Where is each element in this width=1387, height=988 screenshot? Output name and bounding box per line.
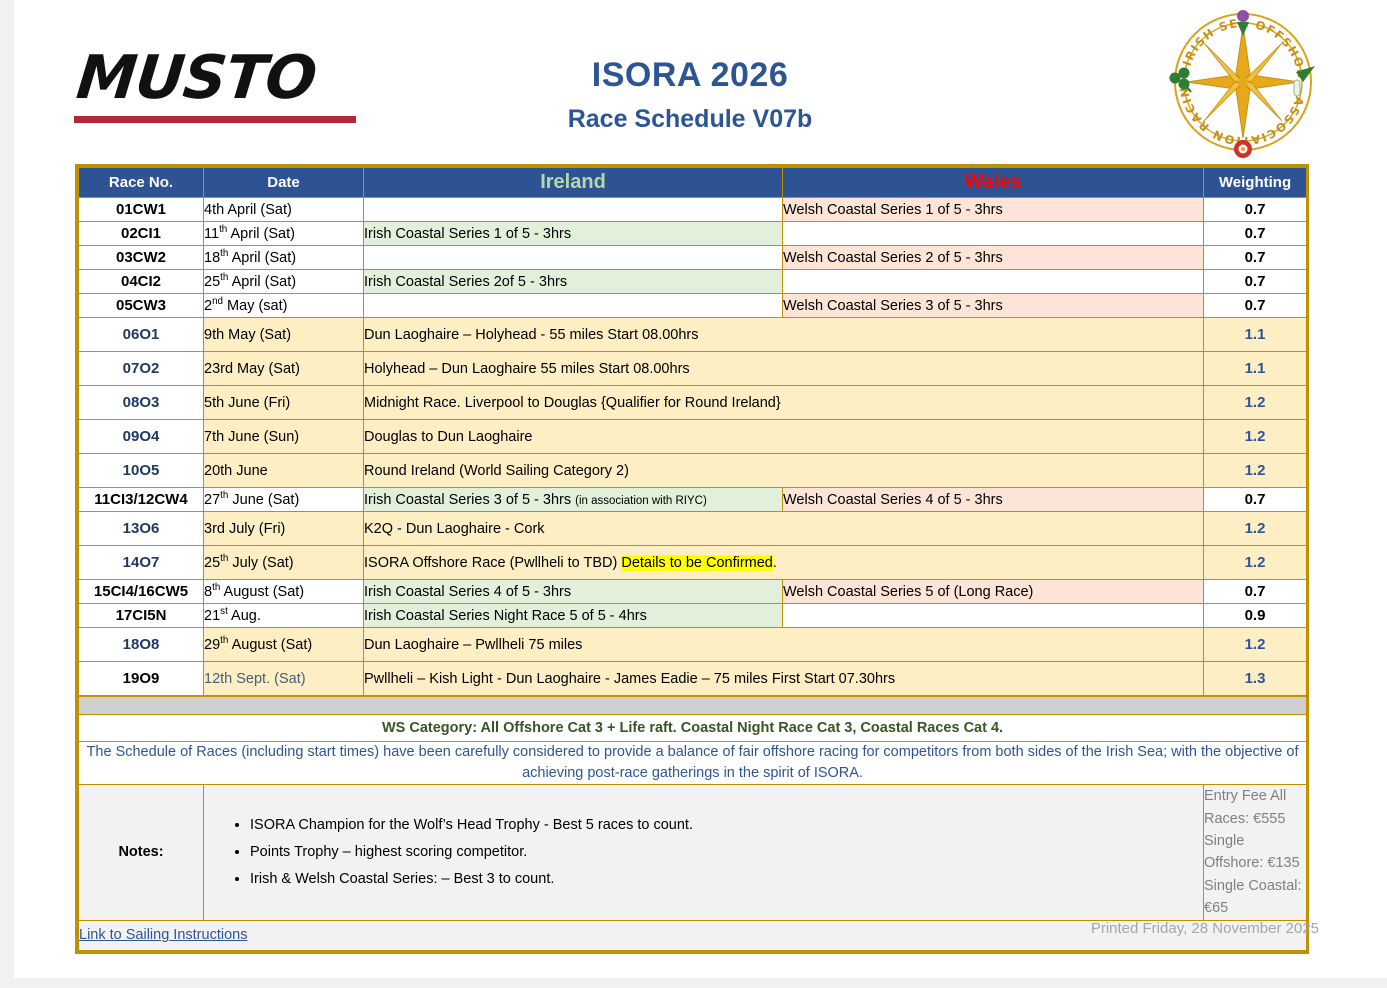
cell-weighting: 0.7 [1204,294,1307,318]
cell-ireland-race [364,246,783,270]
table-row: 18O829th August (Sat)Dun Laoghaire – Pwl… [79,628,1307,662]
cell-race-no: 14O7 [79,546,204,580]
cell-ireland-race: Irish Coastal Series 1 of 5 - 3hrs [364,222,783,246]
table-row: 05CW32nd May (sat)Welsh Coastal Series 3… [79,294,1307,318]
note-item: Points Trophy – highest scoring competit… [250,839,1203,866]
cell-weighting: 1.2 [1204,454,1307,488]
title-block: ISORA 2026 Race Schedule V07b [430,56,950,134]
cell-ireland-race [364,198,783,222]
table-row: 08O35th June (Fri)Midnight Race. Liverpo… [79,386,1307,420]
cell-race-no: 13O6 [79,512,204,546]
table-row: 02CI111th April (Sat)Irish Coastal Serie… [79,222,1307,246]
cell-race-no: 08O3 [79,386,204,420]
cell-race-no: 04CI2 [79,270,204,294]
cell-weighting: 0.9 [1204,604,1307,628]
link-to-sailing-instructions[interactable]: Link to Sailing Instructions [79,927,247,943]
cell-weighting: 0.7 [1204,222,1307,246]
cell-weighting: 1.1 [1204,318,1307,352]
table-row: 04CI225th April (Sat)Irish Coastal Serie… [79,270,1307,294]
cell-ireland-race: Irish Coastal Series 2of 5 - 3hrs [364,270,783,294]
thistle-icon [1237,10,1249,36]
cell-race-no: 19O9 [79,662,204,696]
cell-race-no: 11CI3/12CW4 [79,488,204,512]
cell-date: 18th April (Sat) [204,246,364,270]
musto-logo: MUSTO [74,50,356,123]
cell-race-no: 01CW1 [79,198,204,222]
cell-wales-race [783,222,1204,246]
notes-list: ISORA Champion for the Wolf’s Head Troph… [204,785,1204,921]
cell-weighting: 1.3 [1204,662,1307,696]
cell-race-description: ISORA Offshore Race (Pwllheli to TBD) De… [364,546,1204,580]
table-row: 09O47th June (Sun)Douglas to Dun Laoghai… [79,420,1307,454]
cell-date: 5th June (Fri) [204,386,364,420]
cell-race-no: 02CI1 [79,222,204,246]
table-row: 10O520th JuneRound Ireland (World Sailin… [79,454,1307,488]
ws-category-note: WS Category: All Offshore Cat 3 + Life r… [79,715,1307,742]
cell-wales-race: Welsh Coastal Series 1 of 5 - 3hrs [783,198,1204,222]
musto-wordmark: MUSTO [74,50,362,107]
col-header-race-no: Race No. [79,168,204,198]
cell-date: 21st Aug. [204,604,364,628]
note-item: ISORA Champion for the Wolf’s Head Troph… [250,812,1203,839]
table-row: 14O725th July (Sat)ISORA Offshore Race (… [79,546,1307,580]
cell-weighting: 1.2 [1204,512,1307,546]
cell-date: 11th April (Sat) [204,222,364,246]
cell-ireland-race: Irish Coastal Series Night Race 5 of 5 -… [364,604,783,628]
cell-weighting: 0.7 [1204,488,1307,512]
fee-line: Single Offshore: €135 [1204,830,1306,875]
table-row: 06O19th May (Sat)Dun Laoghaire – Holyhea… [79,318,1307,352]
cell-race-description: Douglas to Dun Laoghaire [364,420,1204,454]
cell-race-no: 06O1 [79,318,204,352]
cell-wales-race [783,270,1204,294]
cell-date: 7th June (Sun) [204,420,364,454]
cell-weighting: 1.1 [1204,352,1307,386]
cell-race-no: 15CI4/16CW5 [79,580,204,604]
fee-line: Entry Fee All Races: €555 [1204,785,1306,830]
cell-date: 9th May (Sat) [204,318,364,352]
page-subtitle: Race Schedule V07b [430,105,950,134]
col-header-weighting: Weighting [1204,168,1307,198]
cell-wales-race [783,604,1204,628]
document-header: MUSTO ISORA 2026 Race Schedule V07b [0,0,1387,160]
tudor-rose-icon [1234,140,1252,158]
table-row: 15CI4/16CW58th August (Sat)Irish Coastal… [79,580,1307,604]
cell-weighting: 1.2 [1204,420,1307,454]
cell-ireland-race: Irish Coastal Series 4 of 5 - 3hrs [364,580,783,604]
race-schedule-table: Race No. Date Ireland Wales Weighting 01… [78,167,1307,696]
cell-date: 20th June [204,454,364,488]
cell-date: 2nd May (sat) [204,294,364,318]
table-row: 11CI3/12CW427th June (Sat)Irish Coastal … [79,488,1307,512]
printed-date: Printed Friday, 28 November 2025 [1091,920,1319,937]
cell-race-description: Dun Laoghaire – Pwllheli 75 miles [364,628,1204,662]
table-row: 01CW14th April (Sat)Welsh Coastal Series… [79,198,1307,222]
cell-ireland-race [364,294,783,318]
notes-label: Notes: [79,785,204,921]
cell-weighting: 0.7 [1204,270,1307,294]
cell-race-no: 05CW3 [79,294,204,318]
page-title: ISORA 2026 [430,56,950,95]
table-row: 07O223rd May (Sat)Holyhead – Dun Laoghai… [79,352,1307,386]
table-row: 13O63rd July (Fri)K2Q - Dun Laoghaire - … [79,512,1307,546]
fees-panel: Entry Fee All Races: €555Single Offshore… [1204,785,1307,921]
page-edge-bottom [0,978,1387,988]
isora-compass-logo: IRISH SEA OFFSHORE ASSOCIATION RACING [1163,6,1323,158]
cell-date: 25th April (Sat) [204,270,364,294]
cell-race-description: Round Ireland (World Sailing Category 2) [364,454,1204,488]
cell-wales-race: Welsh Coastal Series 5 of (Long Race) [783,580,1204,604]
cell-race-description: K2Q - Dun Laoghaire - Cork [364,512,1204,546]
cell-race-no: 18O8 [79,628,204,662]
table-body: 01CW14th April (Sat)Welsh Coastal Series… [79,198,1307,696]
table-header-row: Race No. Date Ireland Wales Weighting [79,168,1307,198]
cell-weighting: 0.7 [1204,580,1307,604]
cell-weighting: 1.2 [1204,386,1307,420]
cell-wales-race: Welsh Coastal Series 4 of 5 - 3hrs [783,488,1204,512]
fee-line: Single Coastal: €65 [1204,875,1306,920]
isora-logo-svg: IRISH SEA OFFSHORE ASSOCIATION RACING [1163,6,1323,158]
musto-red-bar [74,116,356,123]
cell-weighting: 1.2 [1204,628,1307,662]
table-row: 19O912th Sept. (Sat)Pwllheli – Kish Ligh… [79,662,1307,696]
cell-date: 27th June (Sat) [204,488,364,512]
note-item: Irish & Welsh Coastal Series: – Best 3 t… [250,866,1203,893]
col-header-date: Date [204,168,364,198]
cell-date: 12th Sept. (Sat) [204,662,364,696]
cell-race-no: 10O5 [79,454,204,488]
cell-race-description: Holyhead – Dun Laoghaire 55 miles Start … [364,352,1204,386]
cell-date: 25th July (Sat) [204,546,364,580]
cell-weighting: 1.2 [1204,546,1307,580]
footer-table: WS Category: All Offshore Cat 3 + Life r… [78,696,1307,951]
cell-weighting: 0.7 [1204,246,1307,270]
cell-date: 4th April (Sat) [204,198,364,222]
cell-wales-race: Welsh Coastal Series 2 of 5 - 3hrs [783,246,1204,270]
cell-weighting: 0.7 [1204,198,1307,222]
cell-date: 8th August (Sat) [204,580,364,604]
cell-race-no: 09O4 [79,420,204,454]
table-row: 17CI5N21st Aug.Irish Coastal Series Nigh… [79,604,1307,628]
table-row: 03CW218th April (Sat)Welsh Coastal Serie… [79,246,1307,270]
cell-date: 3rd July (Fri) [204,512,364,546]
col-header-wales: Wales [783,168,1204,198]
cell-date: 29th August (Sat) [204,628,364,662]
cell-race-description: Dun Laoghaire – Holyhead - 55 miles Star… [364,318,1204,352]
cell-race-no: 03CW2 [79,246,204,270]
cell-race-description: Midnight Race. Liverpool to Douglas {Qua… [364,386,1204,420]
cell-ireland-race: Irish Coastal Series 3 of 5 - 3hrs (in a… [364,488,783,512]
cell-date: 23rd May (Sat) [204,352,364,386]
spacer-row [79,697,1307,715]
cell-race-no: 07O2 [79,352,204,386]
cell-race-description: Pwllheli – Kish Light - Dun Laoghaire - … [364,662,1204,696]
col-header-ireland: Ireland [364,168,783,198]
race-schedule-sheet: Race No. Date Ireland Wales Weighting 01… [75,164,1309,954]
schedule-blurb: The Schedule of Races (including start t… [79,742,1307,785]
cell-race-no: 17CI5N [79,604,204,628]
cell-wales-race: Welsh Coastal Series 3 of 5 - 3hrs [783,294,1204,318]
